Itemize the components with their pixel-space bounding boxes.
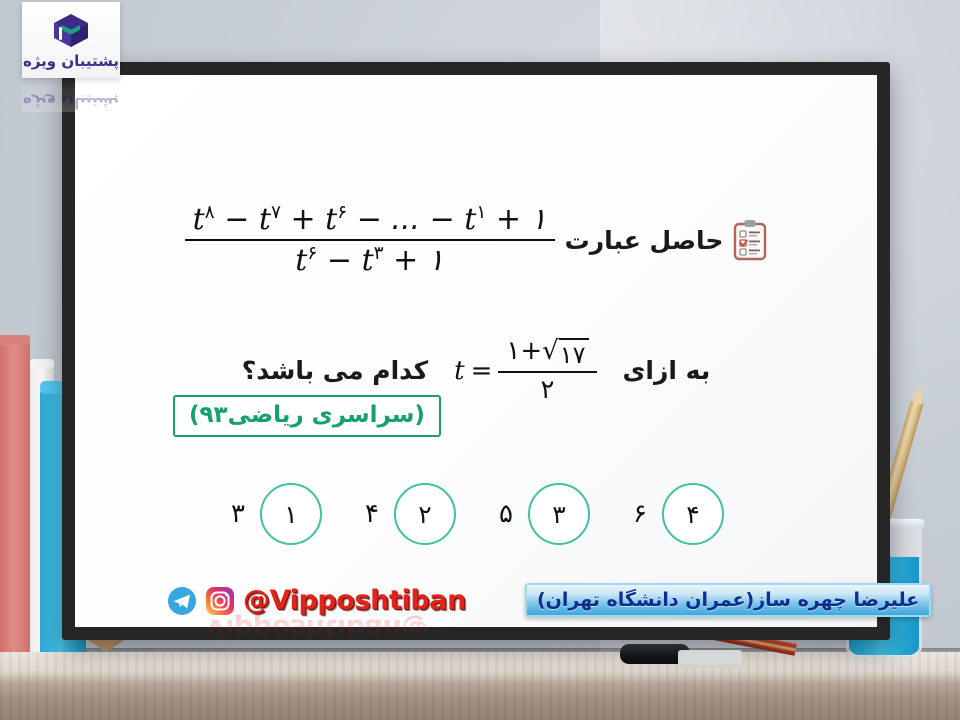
brand-logo-card[interactable]: پشتیبان ویژه	[22, 2, 120, 78]
expression-denominator: t۶ − t۳ + ۱	[287, 244, 452, 277]
author-banner: علیرضا چهره ساز(عمران دانشگاه تهران)	[525, 583, 931, 617]
option-2[interactable]: ۲ ۴	[362, 483, 456, 545]
condition-prefix: به ازای	[623, 356, 711, 385]
num-t4: t	[464, 202, 476, 237]
social-handle-group[interactable]: @Vipposhtiban	[167, 585, 466, 616]
fraction-bar	[185, 239, 555, 241]
eraser	[678, 650, 742, 668]
den-t2: t	[362, 243, 374, 278]
num-op2: +	[281, 202, 325, 237]
source-badge: (سراسری ریاضی۹۳)	[173, 395, 441, 437]
whiteboard-surface: حاصل عبارت t۸ − t۷ + t۶ − ... − t۱ + ۱ t…	[75, 75, 877, 627]
brand-logo-text: پشتیبان ویژه	[23, 52, 119, 70]
t-value-denominator: ۲	[532, 376, 562, 405]
den-const: ۱	[428, 243, 444, 278]
radical-sign: √	[542, 338, 559, 364]
t-value-fraction: ۱+√۱۷ ۲	[498, 337, 596, 405]
num-t3: t	[325, 202, 337, 237]
option-number-1[interactable]: ۱	[260, 483, 322, 545]
option-number-4[interactable]: ۴	[662, 483, 724, 545]
question-line-1: حاصل عبارت t۸ − t۷ + t۶ − ... − t۱ + ۱ t…	[75, 203, 877, 277]
den-op1: −	[317, 243, 361, 278]
option-value-1: ۳	[228, 499, 248, 529]
option-value-2: ۴	[362, 499, 382, 529]
question-prompt-label: حاصل عبارت	[565, 226, 724, 255]
option-number-2[interactable]: ۲	[394, 483, 456, 545]
author-name: علیرضا چهره ساز(عمران دانشگاه تهران)	[537, 589, 919, 611]
clipboard-checklist-icon	[733, 219, 767, 261]
num-t2: t	[259, 202, 271, 237]
num-e4: ۱	[476, 202, 486, 223]
brand-logo-reflection: پشتیبان ویژه	[22, 78, 120, 112]
den-e2: ۳	[374, 243, 384, 264]
den-e1: ۶	[307, 243, 317, 264]
den-op2: +	[384, 243, 428, 278]
graduation-cap-icon	[51, 11, 91, 51]
option-value-4: ۶	[630, 499, 650, 529]
num-op1: −	[215, 202, 259, 237]
option-value-3: ۵	[496, 499, 516, 529]
radicand: ۱۷	[559, 338, 589, 368]
whiteboard-frame: حاصل عبارت t۸ − t۷ + t۶ − ... − t۱ + ۱ t…	[62, 62, 890, 640]
num-e3: ۶	[337, 202, 347, 223]
instagram-icon[interactable]	[205, 586, 235, 616]
condition-suffix: کدام می باشد؟	[242, 356, 428, 385]
wooden-desk	[0, 652, 960, 720]
num-op3: − ... −	[347, 202, 464, 237]
telegram-icon[interactable]	[167, 586, 197, 616]
t-num-lead: ۱+	[506, 336, 542, 366]
social-handle-text[interactable]: @Vipposhtiban	[243, 585, 466, 616]
option-3[interactable]: ۳ ۵	[496, 483, 590, 545]
book-red	[0, 342, 30, 652]
answer-options: ۱ ۳ ۲ ۴ ۳ ۵ ۴ ۶	[75, 483, 877, 545]
option-1[interactable]: ۱ ۳	[228, 483, 322, 545]
social-handle-reflection: @Vipposhtiban	[205, 613, 428, 644]
num-e1: ۸	[205, 202, 215, 223]
t-value-equation: t = ۱+√۱۷ ۲	[454, 337, 596, 405]
expression-numerator: t۸ − t۷ + t۶ − ... − t۱ + ۱	[185, 203, 555, 236]
square-root-icon: √۱۷	[542, 338, 588, 368]
num-const: ۱	[531, 202, 547, 237]
num-t1: t	[193, 202, 205, 237]
t-variable: t	[454, 356, 464, 386]
t-value-numerator: ۱+√۱۷	[498, 337, 596, 368]
scene: حاصل عبارت t۸ − t۷ + t۶ − ... − t۱ + ۱ t…	[0, 0, 960, 720]
main-expression: t۸ − t۷ + t۶ − ... − t۱ + ۱ t۶ − t۳ + ۱	[185, 203, 555, 277]
num-op4: +	[486, 202, 530, 237]
num-e2: ۷	[271, 202, 281, 223]
option-number-3[interactable]: ۳	[528, 483, 590, 545]
t-fraction-bar	[498, 371, 596, 373]
option-4[interactable]: ۴ ۶	[630, 483, 724, 545]
equals-sign: =	[471, 356, 493, 386]
den-t1: t	[295, 243, 307, 278]
